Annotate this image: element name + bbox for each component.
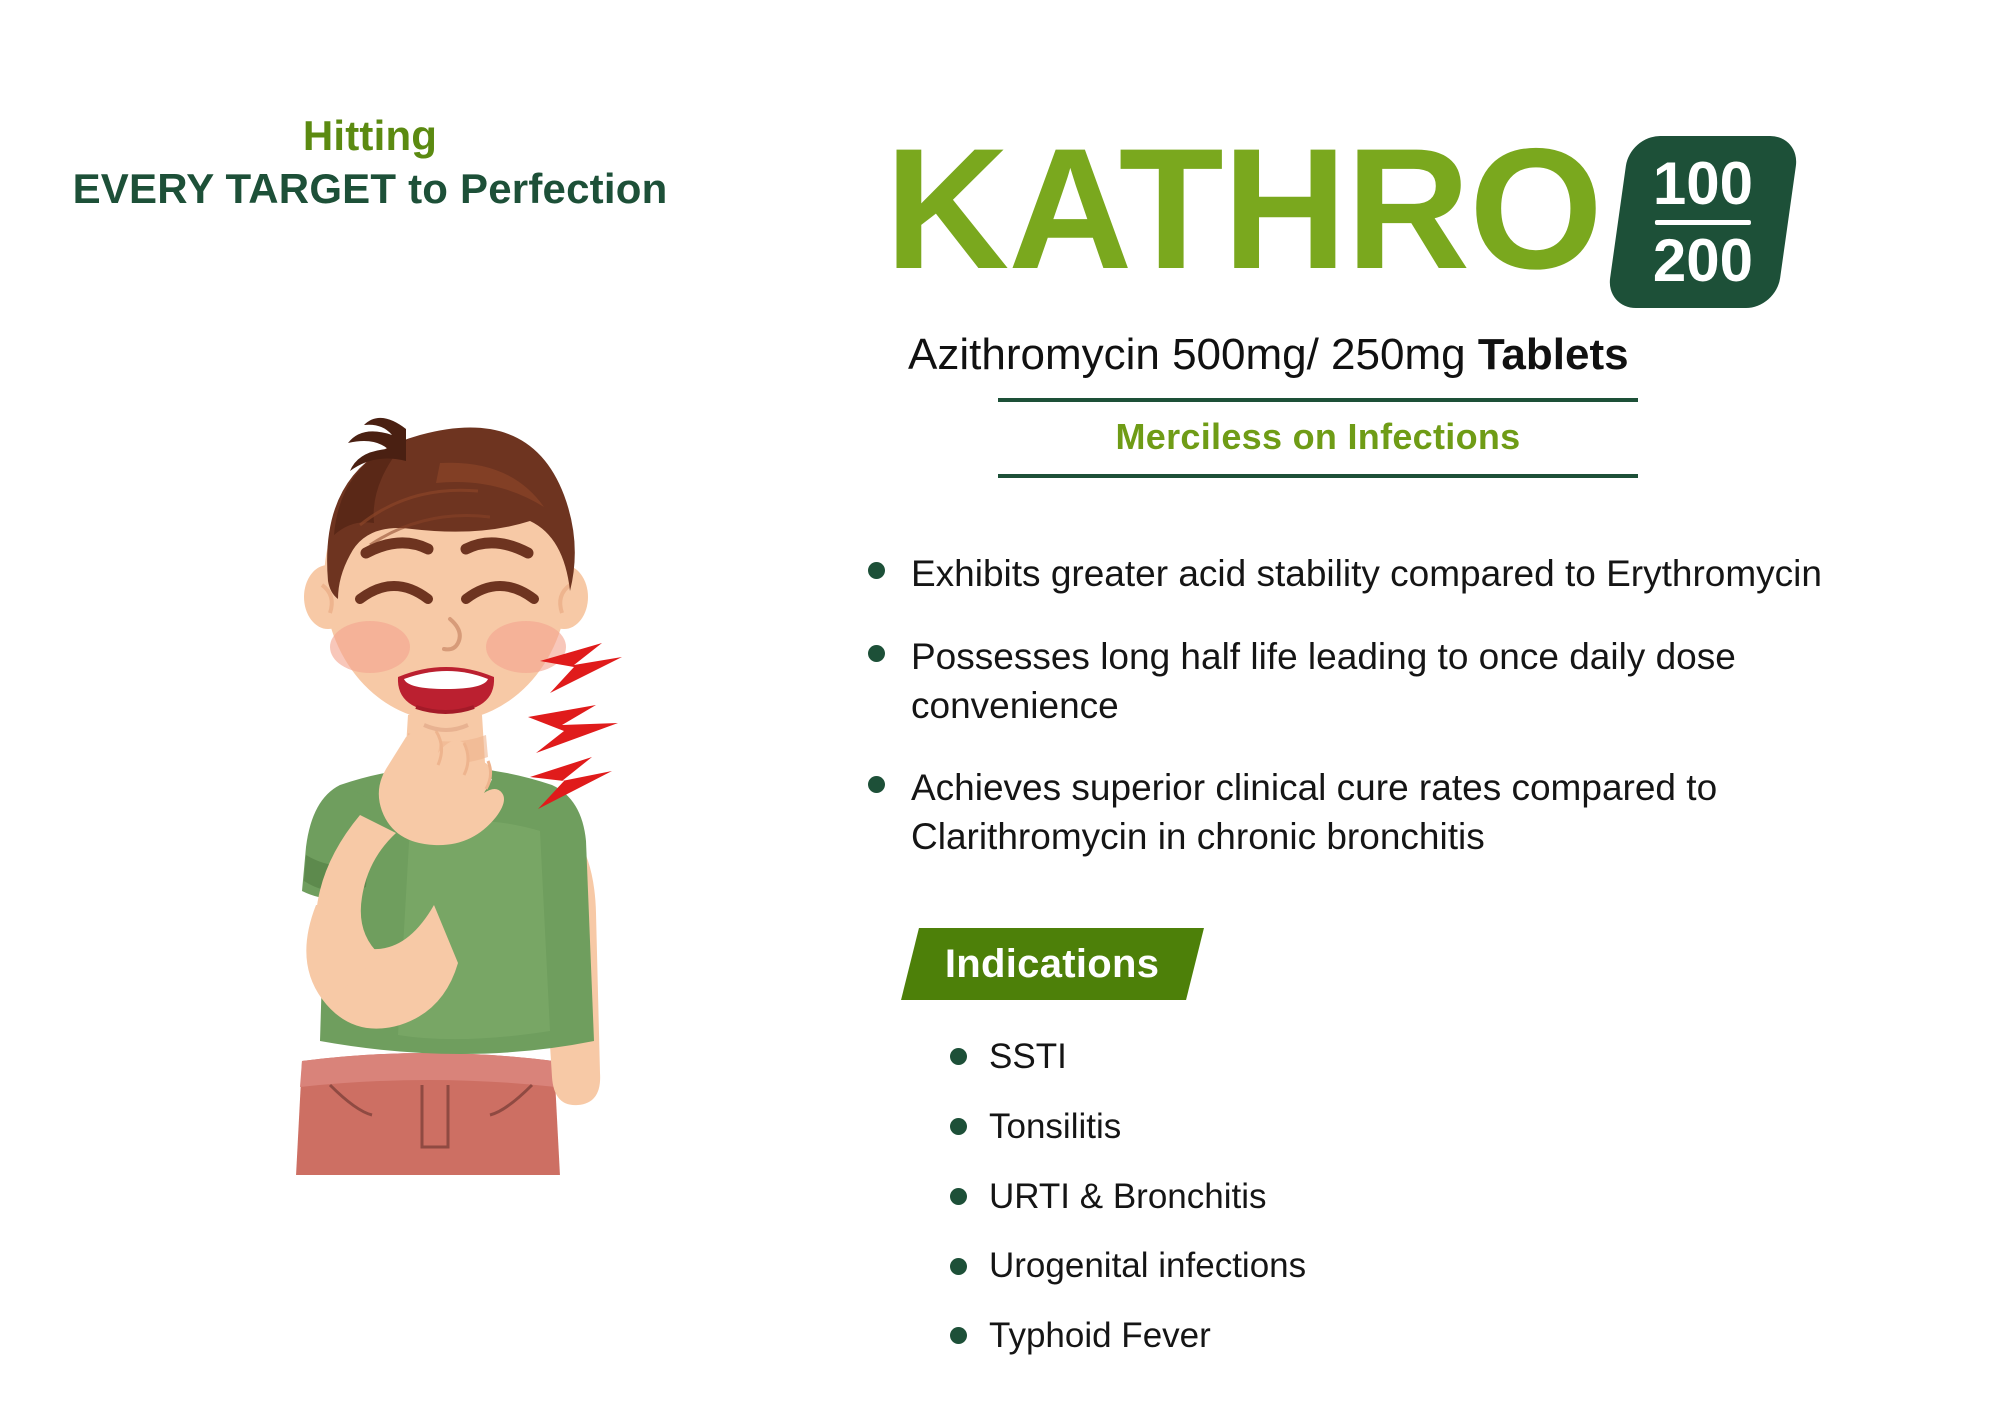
bullet-dot-icon: [868, 776, 885, 793]
indications-banner-label: Indications: [945, 942, 1159, 987]
bullet-dot-icon: [950, 1327, 967, 1344]
dose-strength-badge: 100 200: [1606, 136, 1800, 308]
indication-item: Urogenital infections: [950, 1244, 1650, 1288]
tagline-block: Merciless on Infections: [998, 398, 1638, 478]
indication-text: Urogenital infections: [989, 1244, 1306, 1288]
tagline-text: Merciless on Infections: [998, 402, 1638, 474]
headline: Hitting EVERY TARGET to Perfection: [60, 112, 680, 212]
headline-line-2: EVERY TARGET to Perfection: [60, 165, 680, 212]
dose-bottom-value: 200: [1647, 231, 1759, 291]
headline-line-1: Hitting: [60, 112, 680, 159]
indications-list: SSTI Tonsilitis URTI & Bronchitis Urogen…: [950, 1035, 1650, 1384]
bullet-dot-icon: [950, 1048, 967, 1065]
indication-item: Tonsilitis: [950, 1105, 1650, 1149]
bullet-dot-icon: [868, 562, 885, 579]
indication-item: Typhoid Fever: [950, 1314, 1650, 1358]
benefit-text: Exhibits greater acid stability compared…: [911, 550, 1822, 599]
tagline-rule-bottom: [998, 474, 1638, 478]
indication-text: Tonsilitis: [989, 1105, 1121, 1149]
indication-text: URTI & Bronchitis: [989, 1175, 1267, 1219]
indication-text: Typhoid Fever: [989, 1314, 1211, 1358]
product-panel: KATHRO 100 200 Azithromycin 500mg/ 250mg…: [860, 0, 2000, 1414]
indication-item: SSTI: [950, 1035, 1650, 1079]
brand-row: KATHRO 100 200: [885, 130, 1975, 320]
brand-name: KATHRO: [885, 130, 1602, 288]
benefit-text: Possesses long half life leading to once…: [911, 633, 1871, 731]
generic-name-text: Azithromycin 500mg/ 250mg: [908, 330, 1478, 379]
benefit-text: Achieves superior clinical cure rates co…: [911, 764, 1871, 862]
bullet-dot-icon: [950, 1188, 967, 1205]
poster-canvas: Hitting EVERY TARGET to Perfection: [0, 0, 2000, 1414]
dosage-form-label: Tablets: [1478, 330, 1629, 379]
indication-text: SSTI: [989, 1035, 1067, 1079]
dose-top-value: 100: [1647, 154, 1759, 218]
sore-throat-boy-illustration: [210, 385, 680, 1175]
bullet-dot-icon: [950, 1118, 967, 1135]
generic-name: Azithromycin 500mg/ 250mg Tablets: [908, 330, 1629, 380]
indication-item: URTI & Bronchitis: [950, 1175, 1650, 1219]
benefit-item: Possesses long half life leading to once…: [860, 633, 2000, 731]
bullet-dot-icon: [868, 645, 885, 662]
dose-divider: [1655, 220, 1751, 225]
bullet-dot-icon: [950, 1258, 967, 1275]
dose-badge-inner: 100 200: [1647, 154, 1759, 291]
benefits-list: Exhibits greater acid stability compared…: [860, 550, 2000, 896]
indications-banner: Indications: [901, 928, 1204, 1000]
benefit-item: Achieves superior clinical cure rates co…: [860, 764, 2000, 862]
benefit-item: Exhibits greater acid stability compared…: [860, 550, 2000, 599]
